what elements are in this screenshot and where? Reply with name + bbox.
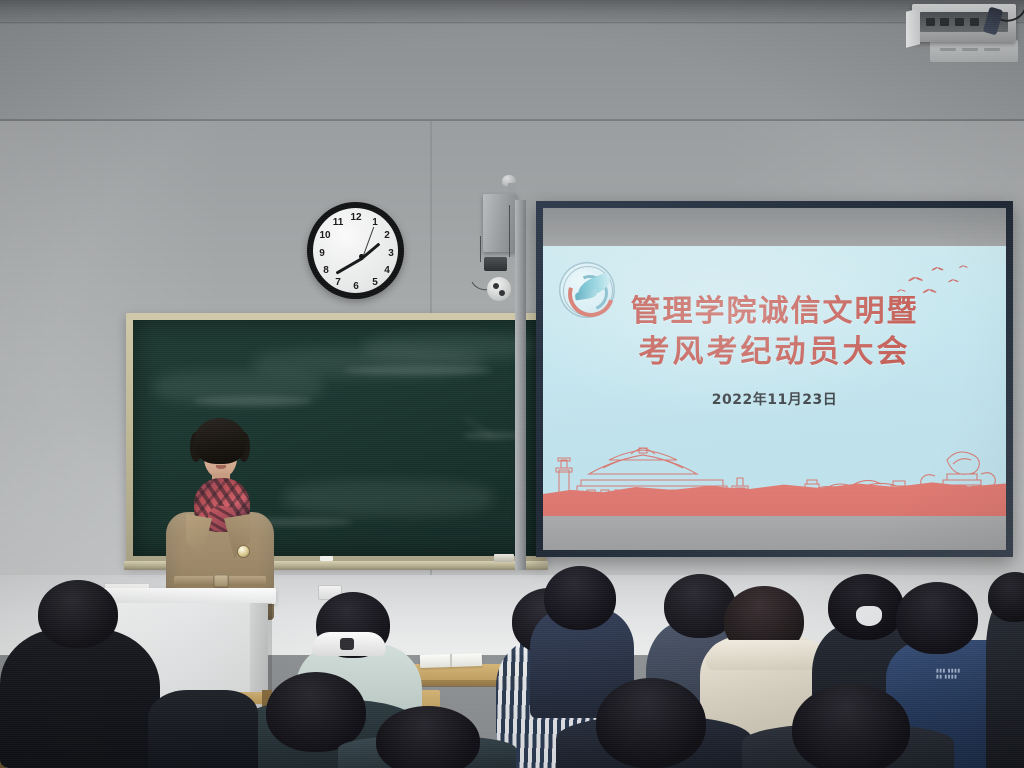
screen-letterbox-top [543,208,1006,246]
clock-numeral: 3 [384,248,398,260]
slide-title-line-2: 考风考纪动员大会 [543,332,1006,372]
clock-numeral: 6 [349,281,363,293]
clock-numeral: 7 [331,277,345,289]
ceiling [0,0,1024,24]
screen-motor-housing [483,194,517,252]
clock-minute-hand [335,257,363,275]
student-head [376,706,480,768]
speaker-mouth [216,465,226,469]
student-head [792,684,910,768]
skyline-illustration [543,458,1006,516]
upper-wall [0,24,1024,120]
student-body [148,690,258,768]
student-head [38,580,118,648]
clock-face: 12 1 2 3 4 5 6 7 8 9 10 11 [313,208,398,293]
student-head [596,678,706,768]
screen-support-post [515,200,526,570]
presentation-slide: · · · · · · · · 管理学院诚信文明暨 考风考纪动员大会 [543,246,1006,516]
speaker-hair [194,418,246,464]
clock-numeral: 12 [349,212,363,224]
clock-numeral: 5 [368,277,382,289]
motor-wire-2 [509,205,510,257]
lectern-top [96,588,276,604]
speaker-belt-buckle [213,574,229,588]
wall-clock: 12 1 2 3 4 5 6 7 8 9 10 11 [307,202,404,299]
wall-speaker-icon [487,277,511,301]
clock-numeral: 10 [318,230,332,242]
student-head [896,582,978,654]
projector-mount [930,40,1018,62]
student-body [0,628,160,768]
projector-side-plate [906,8,920,47]
cap-logo-icon [340,638,354,650]
clock-numeral: 11 [331,217,345,229]
clock-numeral: 9 [315,248,329,260]
slide-date: 2022年11月23日 [543,389,1006,409]
motor-wire [480,236,481,262]
student-head [544,566,616,630]
jacket-print-text: ▮▮▮ ▮▮▮▮▮▮ ▮▮▮▮ [936,668,961,680]
slide-title: 管理学院诚信文明暨 考风考纪动员大会 [543,292,1006,372]
speaker-brooch-icon [238,546,249,557]
face-mask-icon [856,606,882,626]
clock-numeral: 2 [380,230,394,242]
board-eraser [494,554,514,562]
classroom-photo: 12 1 2 3 4 5 6 7 8 9 10 11 [0,0,1024,768]
student-body [986,600,1024,768]
clock-numeral: 8 [319,265,333,277]
clock-center-pin [359,254,364,259]
projection-screen-surface: · · · · · · · · 管理学院诚信文明暨 考风考纪动员大会 [543,208,1006,550]
student-head [266,672,366,752]
slide-title-line-1: 管理学院诚信文明暨 [631,294,919,329]
chalk-stick [320,556,333,561]
clock-numeral: 1 [368,217,382,229]
screen-letterbox-bottom [543,516,1006,550]
clock-numeral: 4 [380,265,394,277]
